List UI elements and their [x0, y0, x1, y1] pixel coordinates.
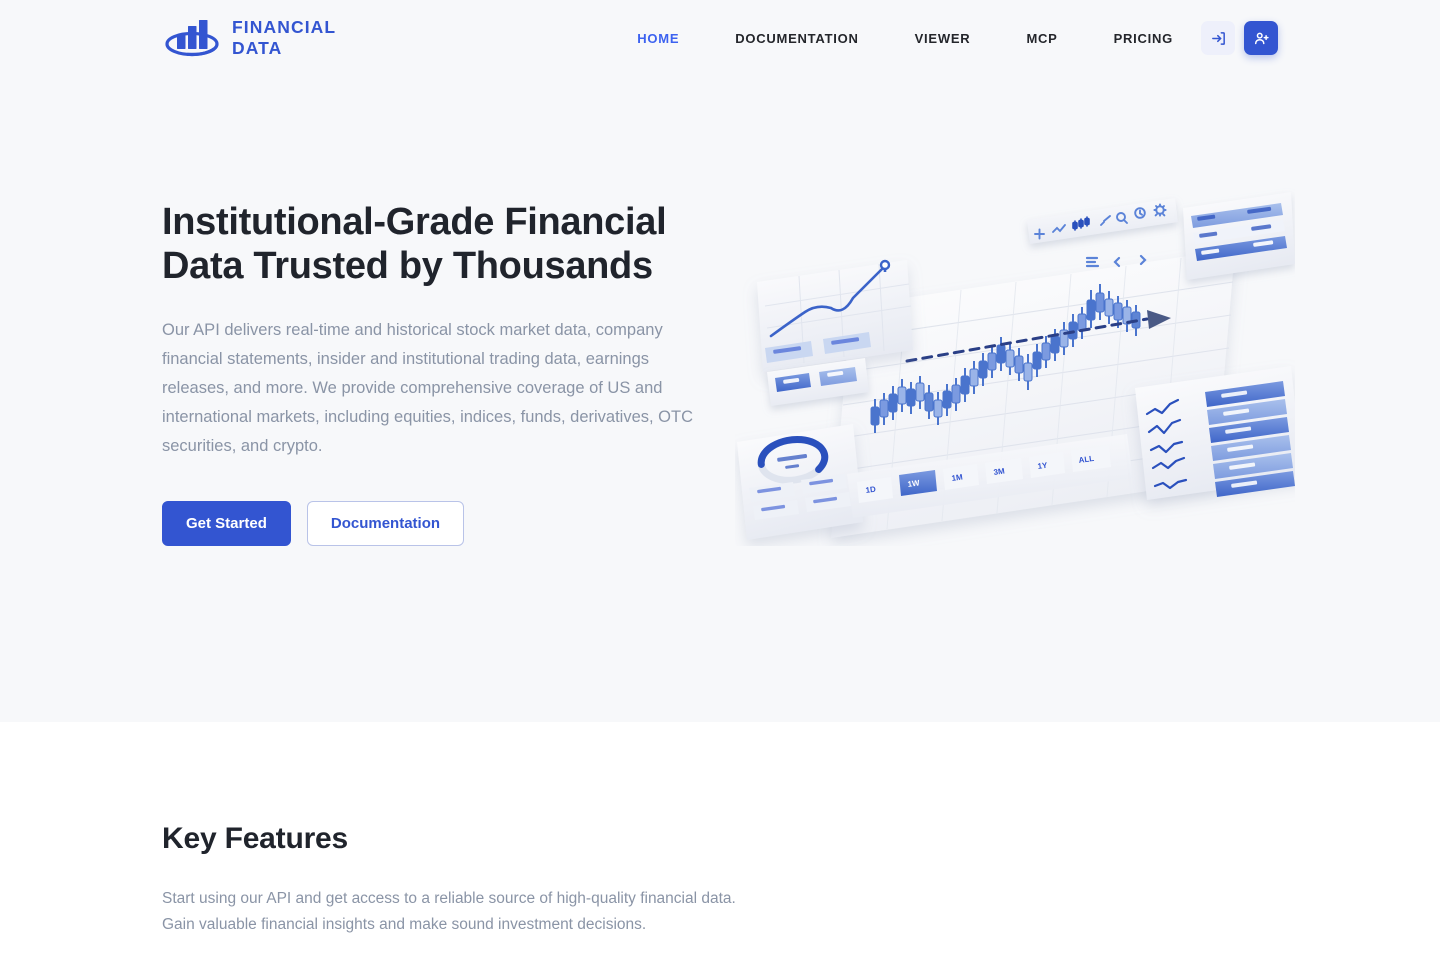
- svg-text:1Y: 1Y: [1037, 461, 1049, 471]
- key-features-subtitle-line1: Start using our API and get access to a …: [162, 886, 922, 912]
- hero-section: FINANCIAL DATA HOME DOCUMENTATION VIEWER…: [0, 0, 1440, 722]
- brand-name: FINANCIAL DATA: [232, 17, 347, 59]
- nav-item-home[interactable]: HOME: [609, 31, 707, 46]
- key-features-inner: Key Features Start using our API and get…: [162, 822, 922, 938]
- signup-button[interactable]: [1244, 21, 1278, 55]
- hero-title: Institutional-Grade Financial Data Trust…: [162, 200, 722, 288]
- documentation-button[interactable]: Documentation: [307, 501, 464, 546]
- nav-item-documentation[interactable]: DOCUMENTATION: [707, 31, 886, 46]
- svg-text:1W: 1W: [907, 478, 921, 489]
- key-features-subtitle: Start using our API and get access to a …: [162, 886, 922, 938]
- user-plus-icon: [1253, 30, 1270, 47]
- brand-logo-link[interactable]: FINANCIAL DATA: [162, 17, 347, 59]
- svg-text:1M: 1M: [951, 472, 964, 483]
- nav-item-pricing[interactable]: PRICING: [1086, 31, 1201, 46]
- get-started-button[interactable]: Get Started: [162, 501, 291, 546]
- nav-item-viewer[interactable]: VIEWER: [887, 31, 999, 46]
- hero-title-line2: Data Trusted by Thousands: [162, 245, 653, 287]
- hero-title-line1: Institutional-Grade Financial: [162, 201, 666, 243]
- nav-links: HOME DOCUMENTATION VIEWER MCP PRICING: [609, 31, 1201, 46]
- nav-item-mcp[interactable]: MCP: [998, 31, 1085, 46]
- key-features-section: Key Features Start using our API and get…: [0, 722, 1440, 960]
- login-arrow-icon: [1210, 30, 1227, 47]
- nav-actions: [1201, 21, 1278, 55]
- hero-subtitle: Our API delivers real-time and historica…: [162, 316, 710, 461]
- hero-cta-group: Get Started Documentation: [162, 501, 722, 546]
- hero-inner: Institutional-Grade Financial Data Trust…: [0, 76, 1440, 722]
- isometric-trading-dashboard-icon: 1D 1W 1M 3M 1Y ALL: [735, 186, 1295, 546]
- bar-chart-orbit-logo-icon: [162, 17, 222, 59]
- main-navbar: FINANCIAL DATA HOME DOCUMENTATION VIEWER…: [0, 0, 1440, 76]
- svg-text:3M: 3M: [993, 466, 1006, 477]
- key-features-title: Key Features: [162, 822, 922, 856]
- hero-illustration: 1D 1W 1M 3M 1Y ALL: [735, 186, 1295, 546]
- hero-copy: Institutional-Grade Financial Data Trust…: [162, 200, 722, 546]
- svg-text:1D: 1D: [865, 485, 877, 495]
- key-features-subtitle-line2: Gain valuable financial insights and mak…: [162, 912, 922, 938]
- login-button[interactable]: [1201, 21, 1235, 55]
